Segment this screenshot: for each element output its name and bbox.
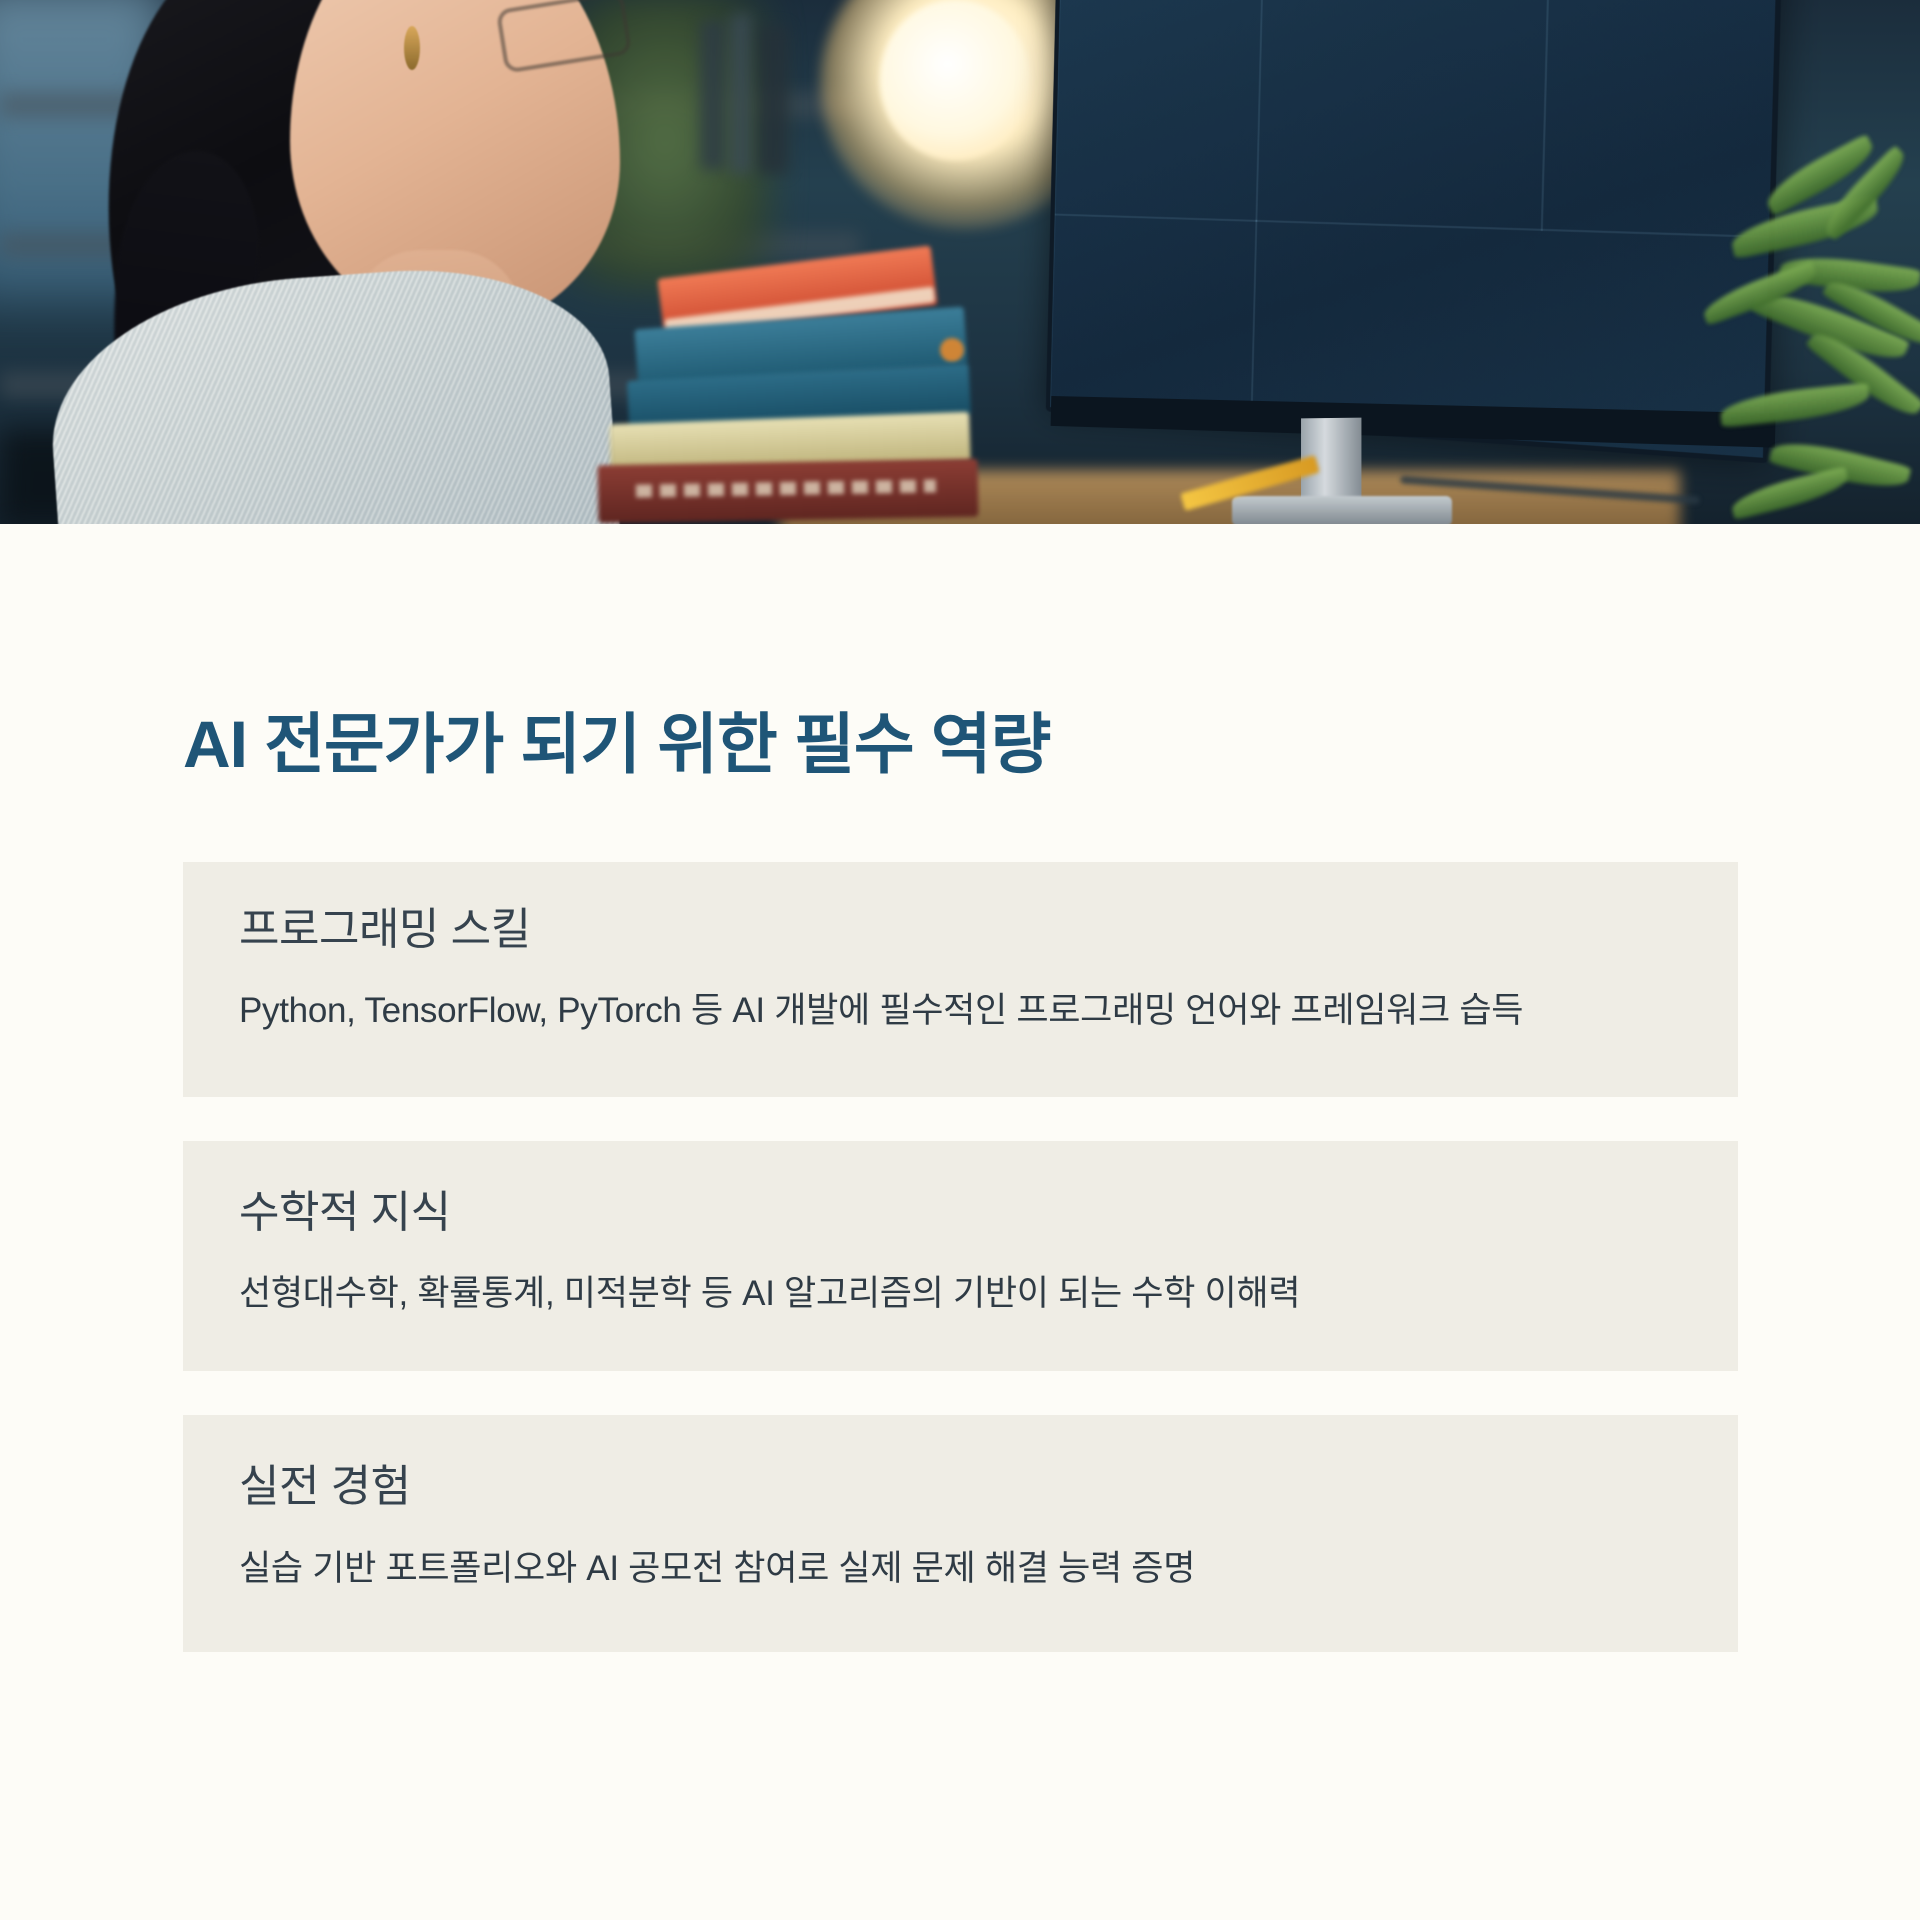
hero-illustration [0,0,1920,524]
editor-pane [1050,214,1258,424]
plant-leaf [1719,382,1871,428]
monitor-foot [1232,496,1452,524]
hero-image [0,0,1920,524]
skill-card-title: 실전 경험 [239,1463,1682,1511]
book-accent-dot [940,338,964,362]
skill-card-body: 선형대수학, 확률통계, 미적분학 등 AI 알고리즘의 기반이 되는 수학 이… [239,1267,1682,1321]
page-root: AI 전문가가 되기 위한 필수 역량 프로그래밍 스킬 Python, Ten… [0,0,1920,1920]
editor-pane [1055,0,1264,222]
skill-card-math[interactable]: 수학적 지식 선형대수학, 확률통계, 미적분학 등 AI 알고리즘의 기반이 … [183,1141,1738,1372]
skill-card-body: Python, TensorFlow, PyTorch 등 AI 개발에 필수적… [239,984,1682,1038]
book-stack-item [598,459,979,524]
shelf-book [700,20,726,170]
skill-card-body: 실습 기반 포트폴리오와 AI 공모전 참여로 실제 문제 해결 능력 증명 [239,1542,1682,1596]
skill-card-title: 프로그래밍 스킬 [239,906,1682,954]
potted-plant [1610,150,1920,524]
skill-card-experience[interactable]: 실전 경험 실습 기반 포트폴리오와 AI 공모전 참여로 실제 문제 해결 능… [183,1415,1738,1652]
plant-leaf [1729,466,1852,520]
skill-card-programming[interactable]: 프로그래밍 스킬 Python, TensorFlow, PyTorch 등 A… [183,862,1738,1097]
skill-card-title: 수학적 지식 [239,1189,1682,1237]
skills-card-list: 프로그래밍 스킬 Python, TensorFlow, PyTorch 등 A… [183,862,1738,1652]
desk-lamp-bulb [880,0,1030,160]
person-earring [404,26,420,70]
shelf-book [758,26,788,174]
shelf-book [730,14,752,174]
page-title: AI 전문가가 되기 위한 필수 역량 [183,710,1050,779]
editor-pane [1256,0,1550,231]
